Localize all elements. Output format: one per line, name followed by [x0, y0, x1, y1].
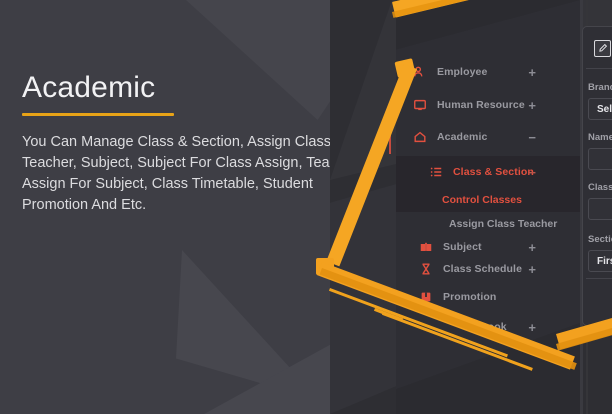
book-icon: [418, 239, 434, 255]
form-card-divider: [586, 68, 612, 69]
hero-description: You Can Manage Class & Section, Assign C…: [22, 132, 367, 216]
sidebar-item-class-schedule[interactable]: Class Schedule +: [396, 254, 580, 284]
sidebar-item-class-and-section[interactable]: Class & Section −: [396, 157, 580, 187]
slide-canvas: Academic You Can Manage Class & Section,…: [0, 0, 612, 414]
field-label: Class Name: [588, 182, 612, 193]
home-icon: [412, 129, 428, 145]
hero-copy: Academic You Can Manage Class & Section,…: [22, 70, 367, 216]
section-select-value: First: [597, 256, 612, 267]
field-name: Name*: [588, 132, 612, 170]
section-select[interactable]: First: [588, 250, 612, 272]
expand-toggle-icon[interactable]: +: [528, 263, 536, 276]
sidebar-subitem-label: Assign Class Teacher: [449, 218, 557, 230]
title-underline: [22, 113, 174, 116]
sidebar-item-academic[interactable]: Academic −: [396, 122, 580, 152]
certificate-icon: [418, 289, 434, 305]
form-card-footer-divider: [586, 278, 612, 279]
field-branch: Branch Select: [588, 82, 612, 120]
field-label: Section: [588, 234, 612, 245]
edit-pencil-icon[interactable]: [594, 40, 611, 57]
hourglass-icon: [418, 261, 434, 277]
sidebar-item-label: Class Schedule: [443, 263, 522, 275]
list-icon: [428, 164, 444, 180]
bg-polygon-3: [120, 250, 320, 414]
field-section: Section First: [588, 234, 612, 272]
branch-select-value: Select: [597, 104, 612, 115]
collapse-toggle-icon[interactable]: −: [528, 131, 536, 144]
people-icon: [412, 64, 428, 80]
field-class-name: Class Name: [588, 182, 612, 220]
sidebar-item-label: Book: [480, 321, 507, 333]
sidebar-item-label: Promotion: [443, 291, 496, 303]
class-name-input[interactable]: [588, 198, 612, 220]
expand-toggle-icon[interactable]: +: [528, 321, 536, 334]
sidebar-item-label: Academic: [437, 131, 487, 143]
field-label: Branch: [588, 82, 612, 93]
page-title: Academic: [22, 70, 367, 106]
sidebar-subitem-label: Control Classes: [442, 194, 522, 206]
expand-toggle-icon[interactable]: +: [528, 241, 536, 254]
collapse-toggle-icon[interactable]: −: [528, 166, 536, 179]
app-screenshot: Employee + Human Resource + Academic −: [330, 0, 612, 414]
expand-toggle-icon[interactable]: +: [528, 66, 536, 79]
field-label: Name*: [588, 132, 612, 143]
sidebar-item-promotion[interactable]: Promotion: [396, 282, 580, 312]
branch-select[interactable]: Select: [588, 98, 612, 120]
monitor-icon: [412, 97, 428, 113]
sidebar-item-book[interactable]: Book +: [396, 312, 580, 342]
sidebar-item-label: Human Resource: [437, 99, 525, 111]
sidebar-active-indicator: [389, 118, 391, 154]
expand-toggle-icon[interactable]: +: [528, 99, 536, 112]
sidebar-item-label: Employee: [437, 66, 487, 78]
form-card-header: [588, 34, 612, 62]
sidebar-item-label: Class & Section: [453, 166, 534, 178]
sidebar-item-employee[interactable]: Employee +: [396, 57, 580, 87]
sidebar-item-label: Subject: [443, 241, 482, 253]
sidebar-item-human-resource[interactable]: Human Resource +: [396, 90, 580, 120]
name-input[interactable]: [588, 148, 612, 170]
sidebar-subitem-control-classes[interactable]: Control Classes: [396, 187, 580, 213]
form-card: [582, 26, 612, 326]
